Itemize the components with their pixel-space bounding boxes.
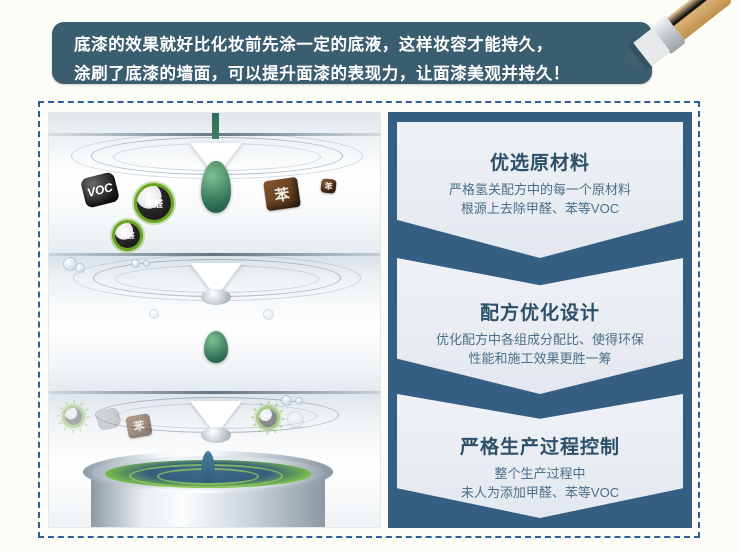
- pollutant-token-formaldehyde-small: 甲醛: [115, 223, 140, 248]
- water-cone-tip: [201, 289, 231, 305]
- page-root: 底漆的效果就好比化妆前先涂一定的底液，这样妆容才能持久， 涂刷了底漆的墙面，可以…: [0, 0, 739, 552]
- feature-panel-1-title: 优选原材料: [388, 148, 692, 175]
- feature-panel-3-line2: 未人为添加甲醛、苯等VOC: [388, 483, 692, 502]
- feature-panel-2-title: 配方优化设计: [388, 298, 692, 325]
- pollutant-token-formaldehyde-large: 甲醛: [137, 186, 171, 220]
- bubble: [149, 309, 159, 319]
- pollutant-token-faded: [259, 409, 277, 427]
- bubble: [143, 260, 150, 267]
- banner-line-1: 底漆的效果就好比化妆前先涂一定的底液，这样妆容才能持久，: [74, 22, 652, 55]
- feature-panel-1[interactable]: 优选原材料 严格氢关配方中的每一个原材料 根源上去除甲醛、苯等VOC: [388, 112, 692, 258]
- bubble: [281, 395, 292, 406]
- feature-panel-3-line1: 整个生产过程中: [388, 464, 692, 483]
- water-droplet-purification-image: VOC 甲醛 甲醛 苯 苯 苯: [48, 112, 381, 528]
- feature-panel-stack: 优选原材料 严格氢关配方中的每一个原材料 根源上去除甲醛、苯等VOC 配方优化设…: [388, 112, 692, 528]
- pollutant-token-benzene-reflection: 苯: [125, 413, 152, 439]
- feature-panel-2-line2: 性能和施工效果更胜一筹: [388, 349, 692, 368]
- header-zone: 底漆的效果就好比化妆前先涂一定的底液，这样妆容才能持久， 涂刷了底漆的墙面，可以…: [0, 0, 739, 100]
- feature-panel-3-title: 严格生产过程控制: [388, 432, 692, 459]
- water-cone-tip: [201, 427, 231, 443]
- banner-line-2: 涂刷了底漆的墙面，可以提升面漆的表现力，让面漆美观并持久！: [74, 55, 652, 84]
- water-surface-line-3: [49, 391, 380, 394]
- feature-panel-3-text: 严格生产过程控制 整个生产过程中 未人为添加甲醛、苯等VOC: [388, 432, 692, 502]
- feature-panel-1-text: 优选原材料 严格氢关配方中的每一个原材料 根源上去除甲醛、苯等VOC: [388, 148, 692, 218]
- feature-panel-2[interactable]: 配方优化设计 优化配方中各组成分配比、使得环保 性能和施工效果更胜一筹: [388, 258, 692, 394]
- pollutant-token-benzene-large: 苯: [263, 177, 301, 211]
- paint-can: [83, 443, 333, 528]
- droplet-stem: [212, 113, 219, 139]
- feature-panel-2-line1: 优化配方中各组成分配比、使得环保: [388, 330, 692, 349]
- green-droplet-medium: [204, 331, 228, 363]
- bubble: [263, 309, 274, 320]
- paintbrush-icon: [612, 0, 739, 68]
- feature-panel-1-line1: 严格氢关配方中的每一个原材料: [388, 180, 692, 199]
- bubble: [75, 263, 85, 273]
- pollutant-token-benzene-small: 苯: [320, 178, 336, 193]
- bubble: [287, 411, 304, 428]
- pollutant-token-faded: [65, 408, 82, 425]
- feature-panel-1-line2: 根源上去除甲醛、苯等VOC: [388, 199, 692, 218]
- bubble: [131, 259, 140, 268]
- feature-panel-2-text: 配方优化设计 优化配方中各组成分配比、使得环保 性能和施工效果更胜一筹: [388, 298, 692, 368]
- green-droplet-large: [201, 161, 231, 213]
- feature-panel-3[interactable]: 严格生产过程控制 整个生产过程中 未人为添加甲醛、苯等VOC: [388, 394, 692, 528]
- header-banner: 底漆的效果就好比化妆前先涂一定的底液，这样妆容才能持久， 涂刷了底漆的墙面，可以…: [52, 22, 652, 84]
- bubble: [295, 397, 303, 405]
